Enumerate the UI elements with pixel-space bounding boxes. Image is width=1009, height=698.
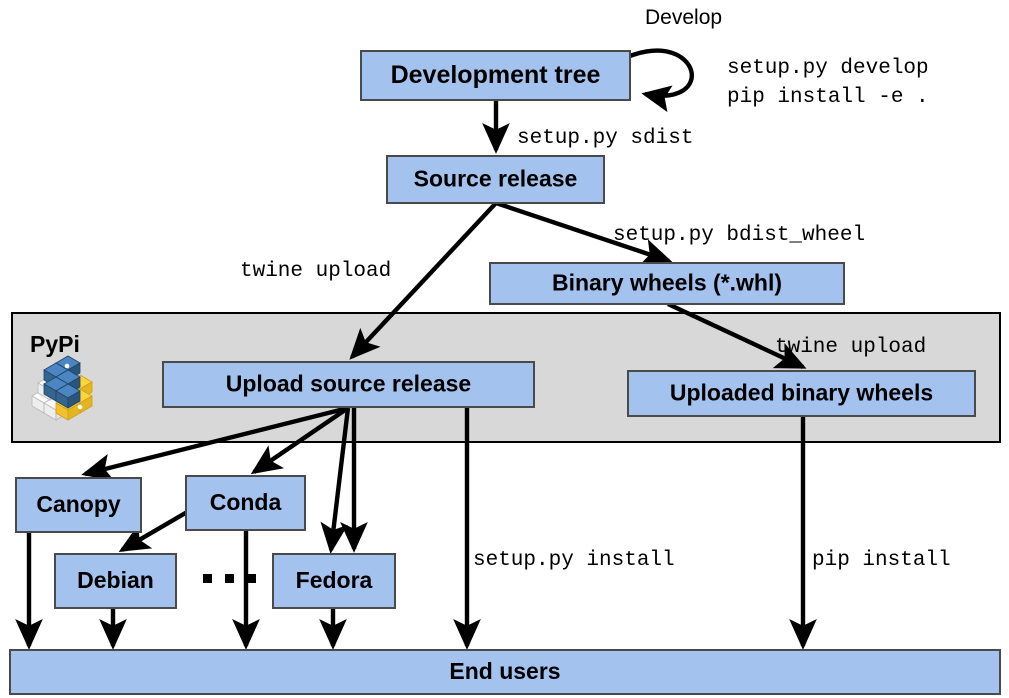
- edge-label-setup_sdist: setup.py sdist: [517, 127, 693, 150]
- more-distros-ellipsis: [203, 574, 256, 583]
- node-debian[interactable]: Debian: [55, 554, 176, 608]
- node-binary_wheels[interactable]: Binary wheels (*.whl): [490, 263, 844, 304]
- node-label: Uploaded binary wheels: [670, 380, 933, 406]
- edge-label-pip_install_e: pip install -e .: [727, 86, 929, 109]
- node-label: Binary wheels (*.whl): [552, 270, 782, 296]
- node-label: End users: [449, 658, 560, 684]
- node-end_users[interactable]: End users: [10, 650, 1000, 694]
- edge-label-setup_install: setup.py install: [473, 549, 675, 572]
- edge-label-setup_develop: setup.py develop: [727, 57, 929, 80]
- edge-label-twine_whl: twine upload: [775, 336, 926, 359]
- logo-eye-top: [65, 364, 70, 369]
- node-fedora[interactable]: Fedora: [273, 554, 395, 608]
- node-canopy[interactable]: Canopy: [16, 478, 141, 532]
- node-source_release[interactable]: Source release: [387, 156, 604, 203]
- edge-label-twine_src: twine upload: [240, 260, 391, 283]
- diagram-canvas: PyPi: [0, 0, 1009, 698]
- logo-eye-bottom: [78, 405, 83, 410]
- pypi-group-label: PyPi: [30, 331, 80, 357]
- edge-label-pip_install: pip install: [812, 549, 951, 572]
- node-label: Debian: [77, 567, 154, 593]
- node-conda[interactable]: Conda: [186, 476, 305, 530]
- node-dev_tree[interactable]: Development tree: [361, 51, 630, 100]
- edge-develop-loop: [630, 51, 692, 96]
- ellipsis-dot: [203, 574, 212, 583]
- node-upload_source[interactable]: Upload source release: [163, 362, 534, 407]
- node-label: Canopy: [36, 491, 121, 517]
- node-label: Fedora: [296, 567, 373, 593]
- ellipsis-dot: [247, 574, 256, 583]
- edge-label-develop: Develop: [645, 6, 722, 29]
- ellipsis-dot: [225, 574, 234, 583]
- node-label: Development tree: [391, 61, 601, 89]
- node-label: Conda: [210, 489, 282, 515]
- node-label: Source release: [414, 166, 578, 192]
- node-label: Upload source release: [226, 371, 471, 397]
- edge-label-bdist_wheel: setup.py bdist_wheel: [613, 224, 865, 247]
- packaging-flow-diagram: PyPi: [0, 0, 1009, 698]
- node-uploaded_wheels[interactable]: Uploaded binary wheels: [628, 371, 975, 416]
